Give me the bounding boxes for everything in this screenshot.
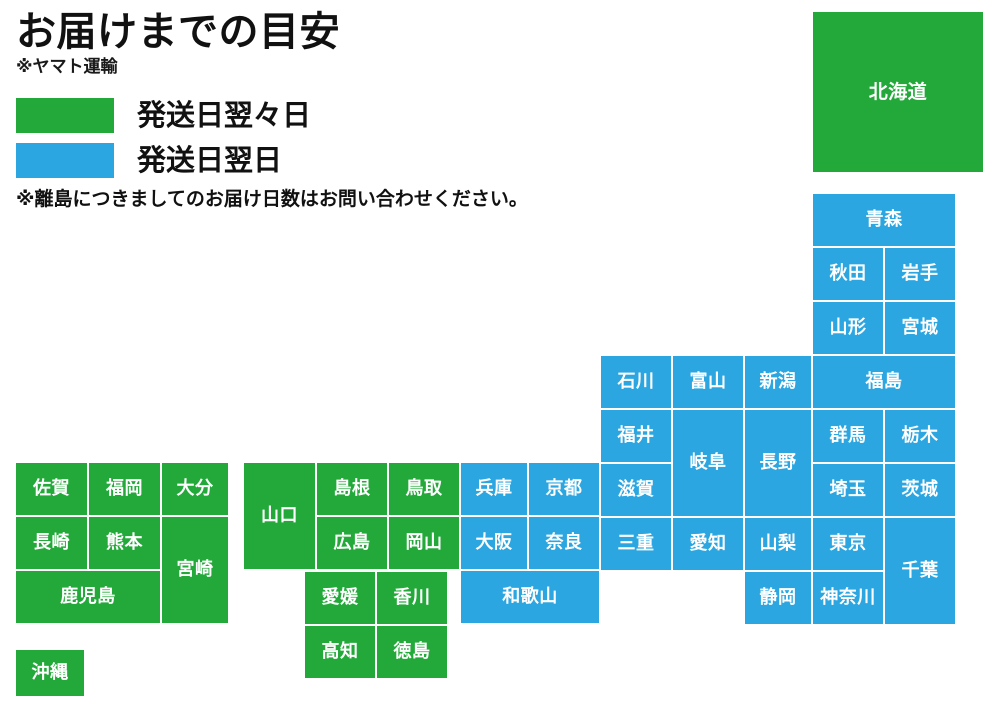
prefecture-tile: 大阪 bbox=[461, 517, 527, 569]
prefecture-tile: 京都 bbox=[529, 463, 599, 515]
prefecture-tile: 三重 bbox=[601, 518, 671, 570]
prefecture-tile: 広島 bbox=[317, 517, 387, 569]
prefecture-tile: 神奈川 bbox=[813, 572, 883, 624]
prefecture-tile: 山口 bbox=[244, 463, 315, 569]
prefecture-label: 滋賀 bbox=[618, 481, 655, 499]
prefecture-label: 宮城 bbox=[902, 319, 939, 337]
prefecture-tile: 福岡 bbox=[89, 463, 160, 515]
prefecture-tile: 福島 bbox=[813, 356, 955, 408]
prefecture-tile: 徳島 bbox=[377, 626, 447, 678]
prefecture-tile: 鹿児島 bbox=[16, 571, 160, 623]
prefecture-label: 兵庫 bbox=[476, 480, 513, 498]
prefecture-tile: 群馬 bbox=[813, 410, 883, 462]
prefecture-tile: 千葉 bbox=[885, 518, 955, 624]
prefecture-label: 神奈川 bbox=[820, 589, 876, 607]
prefecture-tile: 長崎 bbox=[16, 517, 87, 569]
prefecture-label: 岐阜 bbox=[690, 454, 727, 472]
prefecture-label: 福島 bbox=[866, 373, 903, 391]
prefecture-tile: 青森 bbox=[813, 194, 955, 246]
prefecture-tile: 秋田 bbox=[813, 248, 883, 300]
prefecture-label: 福井 bbox=[618, 427, 655, 445]
prefecture-label: 三重 bbox=[618, 535, 655, 553]
prefecture-label: 鳥取 bbox=[406, 480, 443, 498]
prefecture-label: 千葉 bbox=[902, 562, 939, 580]
prefecture-label: 新潟 bbox=[760, 373, 797, 391]
prefecture-label: 島根 bbox=[334, 480, 371, 498]
prefecture-tile: 和歌山 bbox=[461, 571, 599, 623]
prefecture-label: 沖縄 bbox=[32, 664, 69, 682]
prefecture-tile: 静岡 bbox=[745, 572, 811, 624]
prefecture-label: 富山 bbox=[690, 373, 727, 391]
prefecture-tile: 愛媛 bbox=[305, 572, 375, 624]
prefecture-label: 佐賀 bbox=[33, 480, 70, 498]
prefecture-label: 和歌山 bbox=[502, 588, 558, 606]
prefecture-label: 愛知 bbox=[690, 535, 727, 553]
prefecture-label: 山形 bbox=[830, 319, 867, 337]
prefecture-label: 熊本 bbox=[106, 534, 143, 552]
prefecture-label: 香川 bbox=[394, 589, 431, 607]
prefecture-label: 長崎 bbox=[33, 534, 70, 552]
prefecture-label: 奈良 bbox=[546, 534, 583, 552]
prefecture-label: 東京 bbox=[830, 535, 867, 553]
prefecture-tile: 滋賀 bbox=[601, 464, 671, 516]
prefecture-tile: 長野 bbox=[745, 410, 811, 516]
prefecture-label: 静岡 bbox=[760, 589, 797, 607]
prefecture-label: 石川 bbox=[618, 373, 655, 391]
prefecture-tile: 佐賀 bbox=[16, 463, 87, 515]
prefecture-tile: 宮城 bbox=[885, 302, 955, 354]
prefecture-tile: 沖縄 bbox=[16, 650, 84, 696]
prefecture-label: 茨城 bbox=[902, 481, 939, 499]
prefecture-label: 大分 bbox=[177, 480, 214, 498]
prefecture-label: 岩手 bbox=[902, 265, 939, 283]
prefecture-tile: 石川 bbox=[601, 356, 671, 408]
prefecture-label: 埼玉 bbox=[830, 481, 867, 499]
prefecture-tile: 茨城 bbox=[885, 464, 955, 516]
prefecture-tile: 北海道 bbox=[813, 12, 983, 172]
prefecture-tile: 東京 bbox=[813, 518, 883, 570]
prefecture-tile: 岡山 bbox=[389, 517, 459, 569]
prefecture-tile: 富山 bbox=[673, 356, 743, 408]
prefecture-tile: 新潟 bbox=[745, 356, 811, 408]
prefecture-label: 山口 bbox=[261, 507, 298, 525]
prefecture-tile: 大分 bbox=[162, 463, 228, 515]
prefecture-label: 秋田 bbox=[830, 265, 867, 283]
prefecture-label: 徳島 bbox=[394, 643, 431, 661]
prefecture-tile: 宮崎 bbox=[162, 517, 228, 623]
prefecture-tile: 鳥取 bbox=[389, 463, 459, 515]
prefecture-tile: 島根 bbox=[317, 463, 387, 515]
prefecture-label: 愛媛 bbox=[322, 589, 359, 607]
prefecture-tile: 山形 bbox=[813, 302, 883, 354]
delivery-estimate-infographic: お届けまでの目安 ※ヤマト運輸 発送日翌々日発送日翌日 ※離島につきましてのお届… bbox=[0, 0, 1000, 708]
prefecture-label: 岡山 bbox=[406, 534, 443, 552]
prefecture-label: 長野 bbox=[760, 454, 797, 472]
prefecture-tile: 兵庫 bbox=[461, 463, 527, 515]
prefecture-tile: 福井 bbox=[601, 410, 671, 462]
prefecture-tile: 栃木 bbox=[885, 410, 955, 462]
prefecture-tile: 愛知 bbox=[673, 518, 743, 570]
prefecture-label: 宮崎 bbox=[177, 561, 214, 579]
prefecture-label: 青森 bbox=[866, 211, 903, 229]
prefecture-label: 福岡 bbox=[106, 480, 143, 498]
prefecture-tile: 熊本 bbox=[89, 517, 160, 569]
prefecture-label: 広島 bbox=[334, 534, 371, 552]
prefecture-label: 群馬 bbox=[830, 427, 867, 445]
prefecture-label: 大阪 bbox=[476, 534, 513, 552]
prefecture-tile: 岩手 bbox=[885, 248, 955, 300]
prefecture-label: 京都 bbox=[546, 480, 583, 498]
prefecture-tile: 香川 bbox=[377, 572, 447, 624]
japan-prefecture-map: 北海道青森秋田岩手山形宮城福島石川富山新潟福井岐阜長野群馬栃木兵庫京都滋賀埼玉茨… bbox=[0, 0, 1000, 708]
prefecture-tile: 山梨 bbox=[745, 518, 811, 570]
prefecture-tile: 埼玉 bbox=[813, 464, 883, 516]
prefecture-label: 鹿児島 bbox=[60, 588, 116, 606]
prefecture-label: 高知 bbox=[322, 643, 359, 661]
prefecture-tile: 高知 bbox=[305, 626, 375, 678]
prefecture-tile: 岐阜 bbox=[673, 410, 743, 516]
prefecture-label: 山梨 bbox=[760, 535, 797, 553]
prefecture-tile: 奈良 bbox=[529, 517, 599, 569]
prefecture-label: 北海道 bbox=[869, 83, 928, 102]
prefecture-label: 栃木 bbox=[902, 427, 939, 445]
